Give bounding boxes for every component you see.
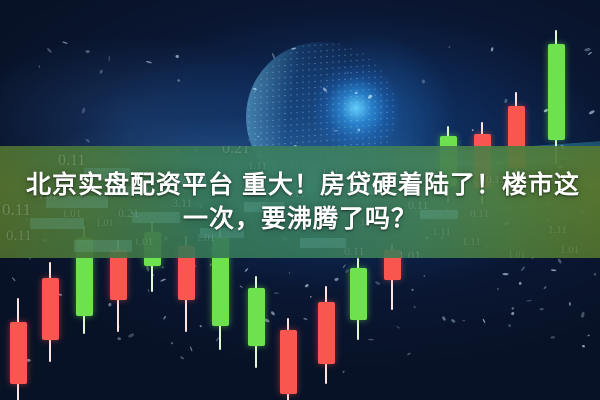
candle-body xyxy=(350,268,367,320)
headline-line-1: 北京实盘配资平台 重大！房贷硬着陆了！楼市这 xyxy=(20,171,580,199)
candle-body xyxy=(548,44,565,140)
candle-body xyxy=(42,278,59,340)
candle-body xyxy=(248,288,265,346)
candle-body xyxy=(10,322,27,384)
candle-body xyxy=(280,330,297,394)
promo-banner-image: 0.110.110.111.011.011.111.010.211.010.11… xyxy=(0,0,600,400)
headline-block: 北京实盘配资平台 重大！房贷硬着陆了！楼市这 一次，要沸腾了吗？ xyxy=(0,146,600,258)
candle-body xyxy=(318,302,335,364)
headline-line-2: 一次，要沸腾了吗？ xyxy=(183,205,417,233)
